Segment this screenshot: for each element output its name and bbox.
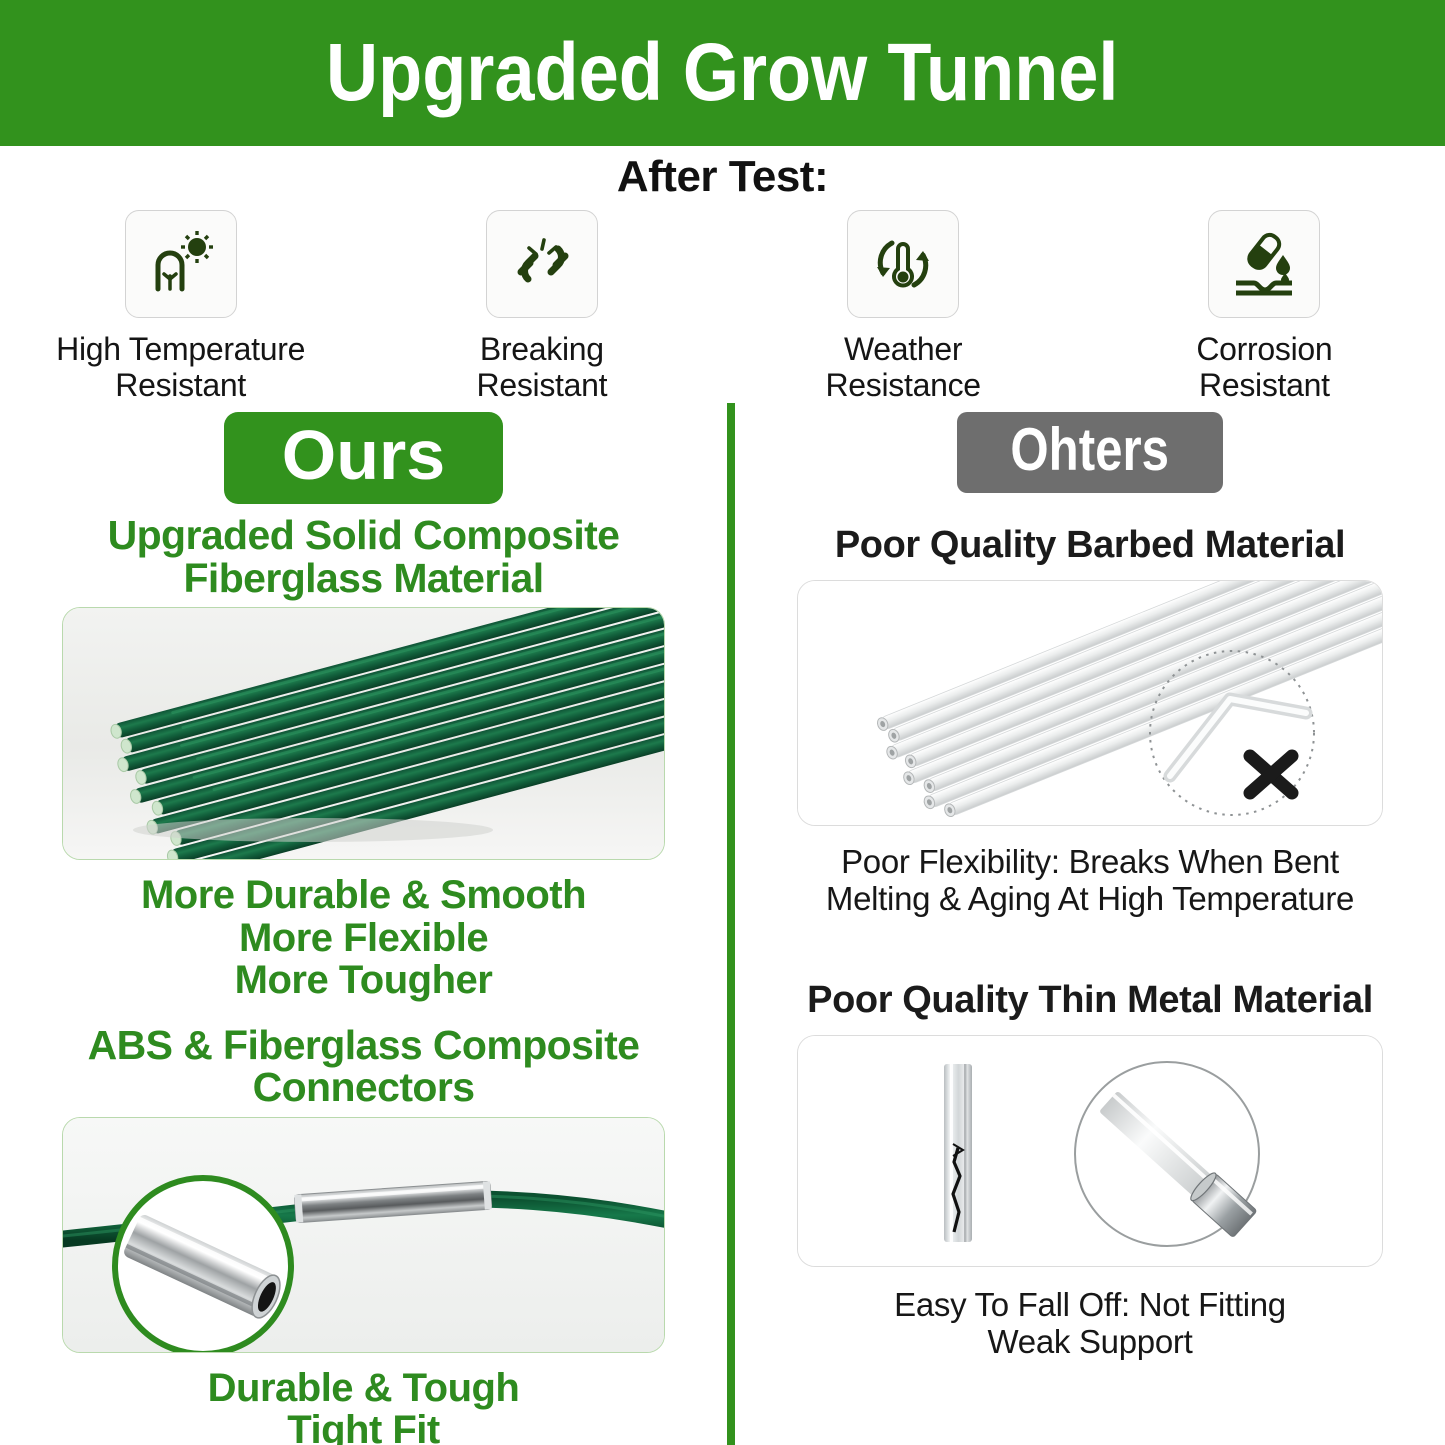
green-rod-metal-connector-photo (62, 1117, 665, 1353)
product-comparison-infographic: Upgraded Grow Tunnel After Test: (0, 0, 1445, 1445)
others-badge: Ohters (957, 412, 1222, 493)
cracked-thin-metal-tube-photo (797, 1035, 1383, 1267)
ours-section-2-caption: Durable & Tough Tight Fit Strong Support (0, 1367, 727, 1445)
header-banner: Upgraded Grow Tunnel (0, 0, 1445, 146)
ours-badge: Ours (224, 412, 503, 504)
grow-tunnel-sun-icon (125, 210, 237, 318)
corrosion-drop-icon (1208, 210, 1320, 318)
others-badge-wrap: Ohters (735, 412, 1445, 493)
feature-label: Corrosion Resistant (1196, 332, 1332, 404)
feature-label: High Temperature Resistant (56, 332, 305, 404)
feature-high-temperature-resistant: High Temperature Resistant (0, 210, 361, 404)
breaking-chain-icon (486, 210, 598, 318)
others-column: Ohters Poor Quality Barbed Material (735, 412, 1445, 1361)
others-section-1-caption: Poor Flexibility: Breaks When Bent Melti… (735, 844, 1445, 918)
page-title: Upgraded Grow Tunnel (326, 32, 1118, 114)
feature-weather-resistance: Weather Resistance (723, 210, 1084, 404)
feature-breaking-resistant: Breaking Resistant (361, 210, 722, 404)
green-fiberglass-rods-photo (62, 607, 665, 860)
thermometer-cycle-icon (847, 210, 959, 318)
others-badge-label: Ohters (1011, 418, 1170, 483)
after-test-heading: After Test: (0, 152, 1445, 202)
ours-section-1-caption: More Durable & Smooth More Flexible More… (0, 874, 727, 1001)
feature-label: Weather Resistance (825, 332, 980, 404)
feature-icon-row: High Temperature Resistant (0, 210, 1445, 404)
others-section-2-caption: Easy To Fall Off: Not Fitting Weak Suppo… (735, 1287, 1445, 1361)
ours-section-2-heading: ABS & Fiberglass Composite Connectors (0, 1024, 727, 1109)
ours-column: Ours Upgraded Solid Composite Fiberglass… (0, 412, 727, 1445)
others-section-1-heading: Poor Quality Barbed Material (735, 525, 1445, 566)
feature-label: Breaking Resistant (477, 332, 608, 404)
ours-badge-label: Ours (282, 418, 445, 492)
ours-badge-wrap: Ours (0, 412, 727, 504)
white-hollow-tubes-photo (797, 580, 1383, 826)
feature-corrosion-resistant: Corrosion Resistant (1084, 210, 1445, 404)
others-section-2-heading: Poor Quality Thin Metal Material (735, 980, 1445, 1021)
column-divider (727, 403, 735, 1445)
ours-section-1-heading: Upgraded Solid Composite Fiberglass Mate… (0, 514, 727, 599)
cracked-tube (944, 1064, 972, 1242)
